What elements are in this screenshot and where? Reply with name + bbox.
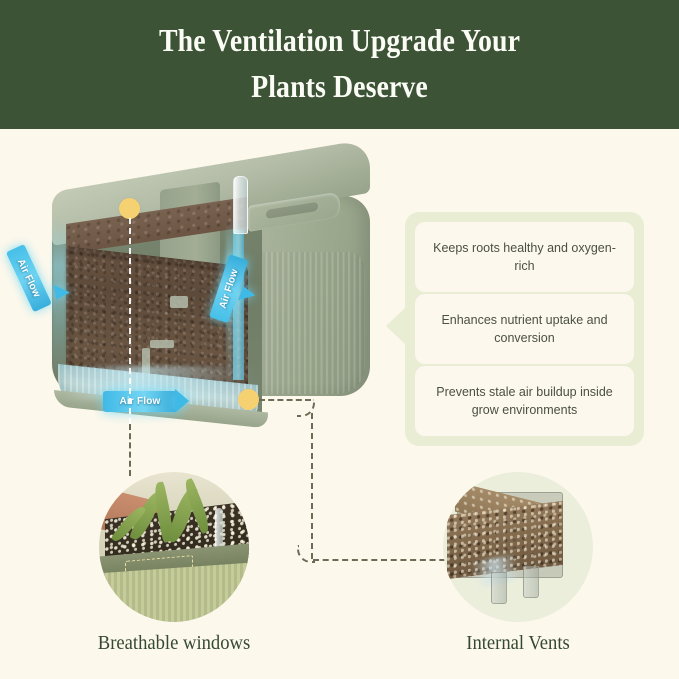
marker-internal-vents[interactable] xyxy=(238,389,259,410)
benefit-card-text: Prevents stale air buildup inside grow e… xyxy=(429,383,620,419)
infographic-page: The Ventilation Upgrade Your Plants Dese… xyxy=(0,0,679,679)
inset-caption-right: Internal Vents xyxy=(408,632,627,655)
benefits-panel: Keeps roots healthy and oxygen-rich Enha… xyxy=(405,212,644,446)
benefits-panel-pointer-icon xyxy=(386,307,406,345)
benefit-card: Keeps roots healthy and oxygen-rich xyxy=(415,222,634,292)
airflow-label-bottom: Air Flow xyxy=(103,391,177,412)
airflow-arrow-bottom-icon xyxy=(175,389,189,413)
benefit-card: Prevents stale air buildup inside grow e… xyxy=(415,366,634,436)
inset-right-vent-leg-2 xyxy=(523,566,539,598)
connector-line-left-upper xyxy=(129,218,131,424)
inset-left-planter-body xyxy=(99,563,249,622)
inset-photo-breathable-windows xyxy=(99,472,249,622)
soil-probe-1 xyxy=(170,296,188,308)
inset-photo-internal-vents xyxy=(443,472,593,622)
benefit-card: Enhances nutrient uptake and conversion xyxy=(415,294,634,364)
marker-breathable-windows[interactable] xyxy=(119,198,140,219)
connector-line-right-vertical xyxy=(311,413,313,559)
connector-line-right-bottom xyxy=(313,559,455,561)
header-banner: The Ventilation Upgrade Your Plants Dese… xyxy=(0,0,679,129)
connector-line-left-lower xyxy=(129,424,131,476)
benefit-card-text: Enhances nutrient uptake and conversion xyxy=(429,311,620,347)
soil-probe-2 xyxy=(150,340,174,348)
inset-caption-left: Breathable windows xyxy=(53,632,295,655)
benefit-card-text: Keeps roots healthy and oxygen-rich xyxy=(429,239,620,275)
page-title: The Ventilation Upgrade Your Plants Dese… xyxy=(159,18,520,109)
product-cutaway-illustration xyxy=(30,168,382,430)
inset-right-vent-leg-1 xyxy=(491,572,507,604)
